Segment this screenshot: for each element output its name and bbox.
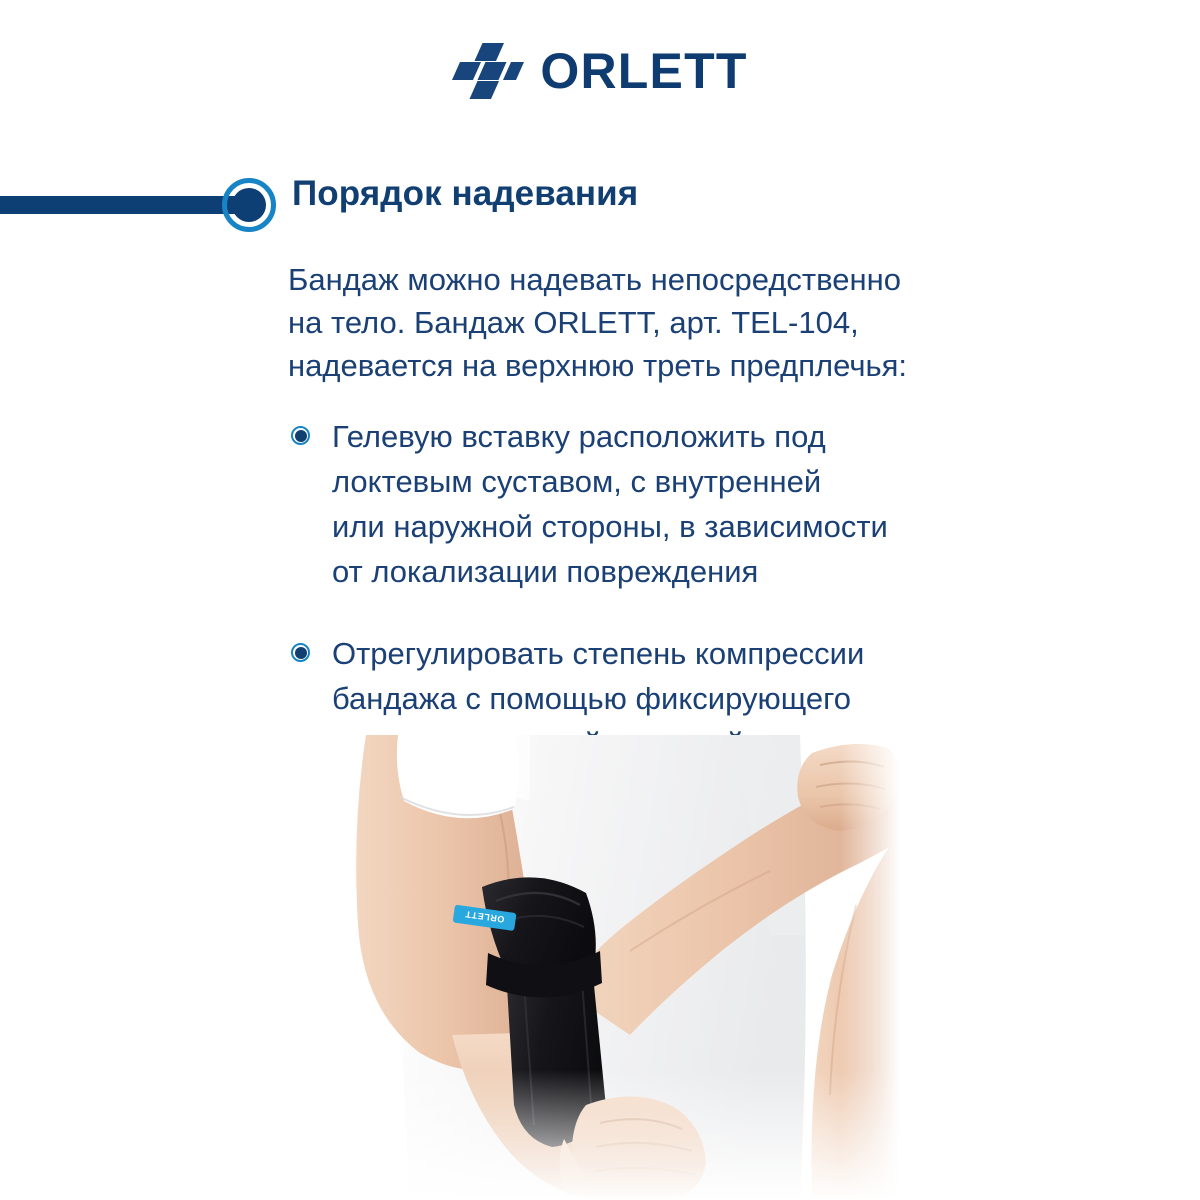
infographic-page: ORLETT Порядок надевания Бандаж можно на… bbox=[0, 0, 1200, 1200]
intro-line-3: надевается на верхнюю треть предплечья: bbox=[288, 344, 1028, 387]
bullet-1-line-4: от локализации повреждения bbox=[332, 549, 1008, 594]
bullet-core bbox=[295, 647, 307, 659]
bullet-2-line-2: бандажа с помощью фиксирующего bbox=[332, 676, 1008, 721]
intro-line-2: на тело. Бандаж ORLETT, арт. TEL-104, bbox=[288, 301, 1028, 344]
bullet-2-line-1: Отрегулировать степень компрессии bbox=[332, 631, 1008, 676]
heading-rule bbox=[0, 196, 248, 214]
bullet-1-line-3: или наружной стороны, в зависимости bbox=[332, 504, 1008, 549]
ring-dot-bullet-icon bbox=[291, 426, 311, 446]
brand-header: ORLETT bbox=[0, 38, 1200, 104]
photo-illustration: ORLETT bbox=[300, 735, 900, 1200]
brand-name: ORLETT bbox=[540, 46, 747, 96]
heading-marker-icon bbox=[222, 178, 276, 232]
bullet-1-line-2: локтевым суставом, с внутренней bbox=[332, 459, 1008, 504]
list-item: Гелевую вставку расположить под локтевым… bbox=[288, 414, 1008, 594]
marker-core bbox=[232, 188, 266, 222]
ring-dot-bullet-icon bbox=[291, 643, 311, 663]
list-item-text: Гелевую вставку расположить под локтевым… bbox=[332, 414, 1008, 594]
instruction-list: Гелевую вставку расположить под локтевым… bbox=[288, 414, 1008, 766]
intro-line-1: Бандаж можно надевать непосредственно bbox=[288, 258, 1028, 301]
intro-paragraph: Бандаж можно надевать непосредственно на… bbox=[288, 258, 1028, 387]
page-title: Порядок надевания bbox=[292, 174, 638, 214]
bullet-1-line-1: Гелевую вставку расположить под bbox=[332, 414, 1008, 459]
section-heading: Порядок надевания bbox=[0, 178, 1200, 232]
bullet-core bbox=[295, 430, 307, 442]
orlett-diamond-mark-icon bbox=[452, 43, 524, 99]
product-photo: ORLETT bbox=[300, 735, 900, 1200]
